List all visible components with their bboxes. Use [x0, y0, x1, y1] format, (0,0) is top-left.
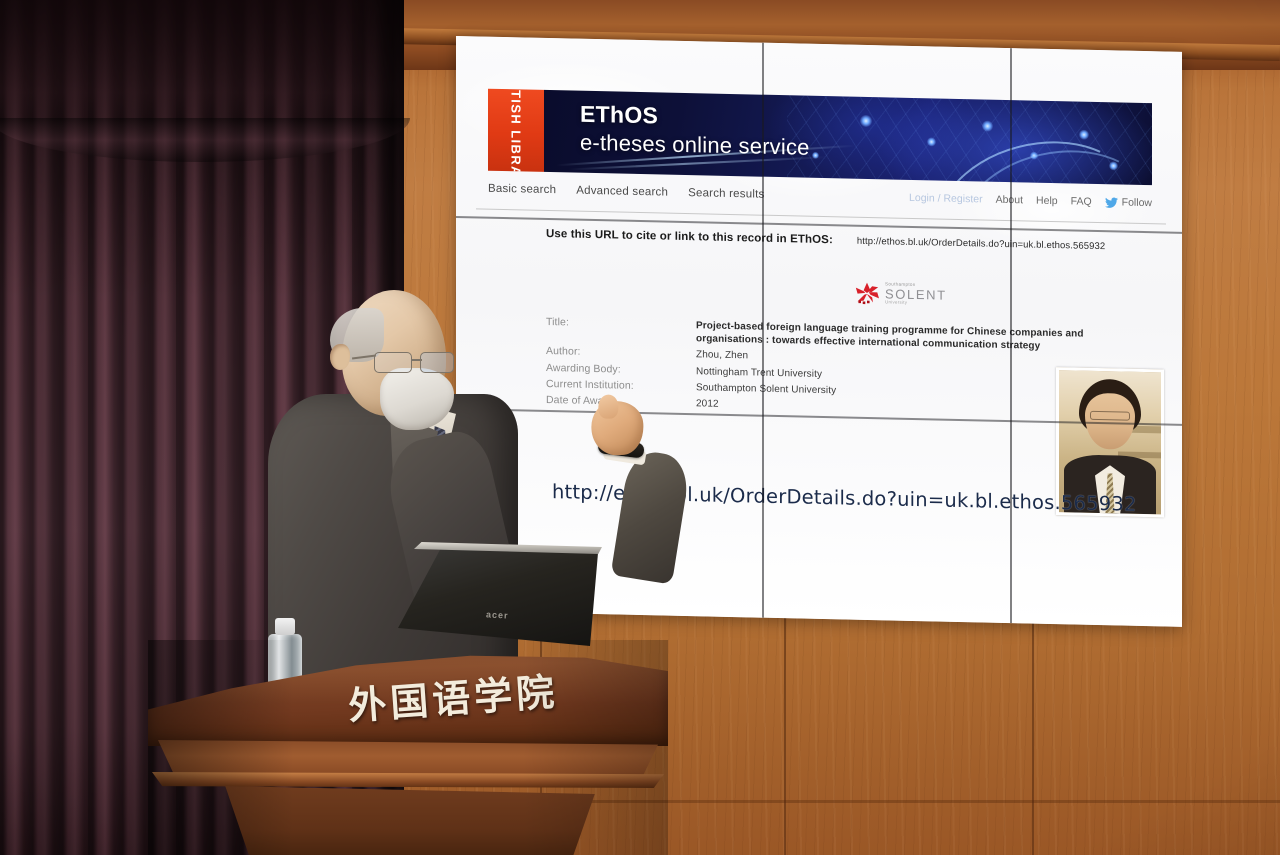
- metadata-key: Author:: [546, 345, 696, 361]
- nav-search-results[interactable]: Search results: [688, 187, 764, 201]
- banner-light-dot: [982, 121, 993, 132]
- curtain-header: [0, 0, 404, 132]
- primary-nav: Basic search Advanced search Search resu…: [488, 183, 764, 201]
- banner-title: EThOS: [580, 103, 658, 128]
- nav-basic-search[interactable]: Basic search: [488, 183, 556, 196]
- speaker-glasses-icon: [374, 352, 462, 374]
- nav-divider: [476, 208, 1166, 224]
- metadata-key: Awarding Body:: [546, 362, 696, 378]
- nav-faq[interactable]: FAQ: [1071, 195, 1092, 207]
- glasses-left-lens: [374, 352, 412, 373]
- nav-follow-label: Follow: [1122, 197, 1152, 210]
- podium-lip: [152, 772, 664, 788]
- cite-url[interactable]: http://ethos.bl.uk/OrderDetails.do?uin=u…: [857, 236, 1105, 252]
- laptop-brand-label: acer: [486, 609, 509, 620]
- speaker-ear: [330, 344, 350, 370]
- banner-subtitle: e-theses online service: [580, 131, 810, 159]
- video-wall-display: BRITISH LIBRARY EThOS e-the: [456, 36, 1182, 627]
- video-wall-bezel: [762, 43, 764, 618]
- laptop-lid: [398, 546, 598, 646]
- metadata-key: Current Institution:: [546, 378, 696, 394]
- nav-login-register[interactable]: Login / Register: [909, 192, 983, 206]
- video-wall-bezel: [1010, 48, 1012, 623]
- institution-logo: Southampton SOLENT University: [854, 281, 947, 307]
- british-library-logo[interactable]: BRITISH LIBRARY: [488, 89, 544, 172]
- presentation-photo-scene: BRITISH LIBRARY EThOS e-the: [0, 0, 1280, 855]
- nav-help[interactable]: Help: [1036, 195, 1058, 207]
- secondary-nav: Login / Register About Help FAQ Follow: [909, 192, 1152, 209]
- podium-base: [200, 786, 620, 855]
- nav-follow[interactable]: Follow: [1105, 196, 1152, 209]
- glasses-right-lens: [420, 352, 454, 373]
- metadata-key: Title:: [546, 316, 696, 346]
- site-header: BRITISH LIBRARY EThOS e-the: [488, 89, 1152, 185]
- speaker-index-finger: [598, 394, 618, 418]
- presenter-laptop[interactable]: acer: [398, 546, 598, 654]
- nav-advanced-search[interactable]: Advanced search: [576, 185, 668, 199]
- banner-light-dot: [1079, 129, 1089, 139]
- cite-record-row: Use this URL to cite or link to this rec…: [546, 228, 1146, 253]
- ethos-web-page: BRITISH LIBRARY EThOS e-the: [456, 36, 1182, 627]
- solent-starburst-icon: [854, 281, 880, 306]
- site-navigation: Basic search Advanced search Search resu…: [488, 183, 1152, 209]
- portrait-glasses-icon: [1090, 411, 1130, 421]
- glasses-bridge: [411, 359, 422, 361]
- water-bottle-cap: [275, 618, 295, 635]
- lectern-podium: 外国语学院: [148, 640, 668, 855]
- ethos-banner: EThOS e-theses online service: [544, 90, 1152, 185]
- cite-label: Use this URL to cite or link to this rec…: [546, 228, 833, 246]
- institution-logo-text: Southampton SOLENT University: [885, 282, 947, 305]
- british-library-logo-text: BRITISH LIBRARY: [509, 89, 524, 172]
- twitter-bird-icon: [1105, 197, 1118, 208]
